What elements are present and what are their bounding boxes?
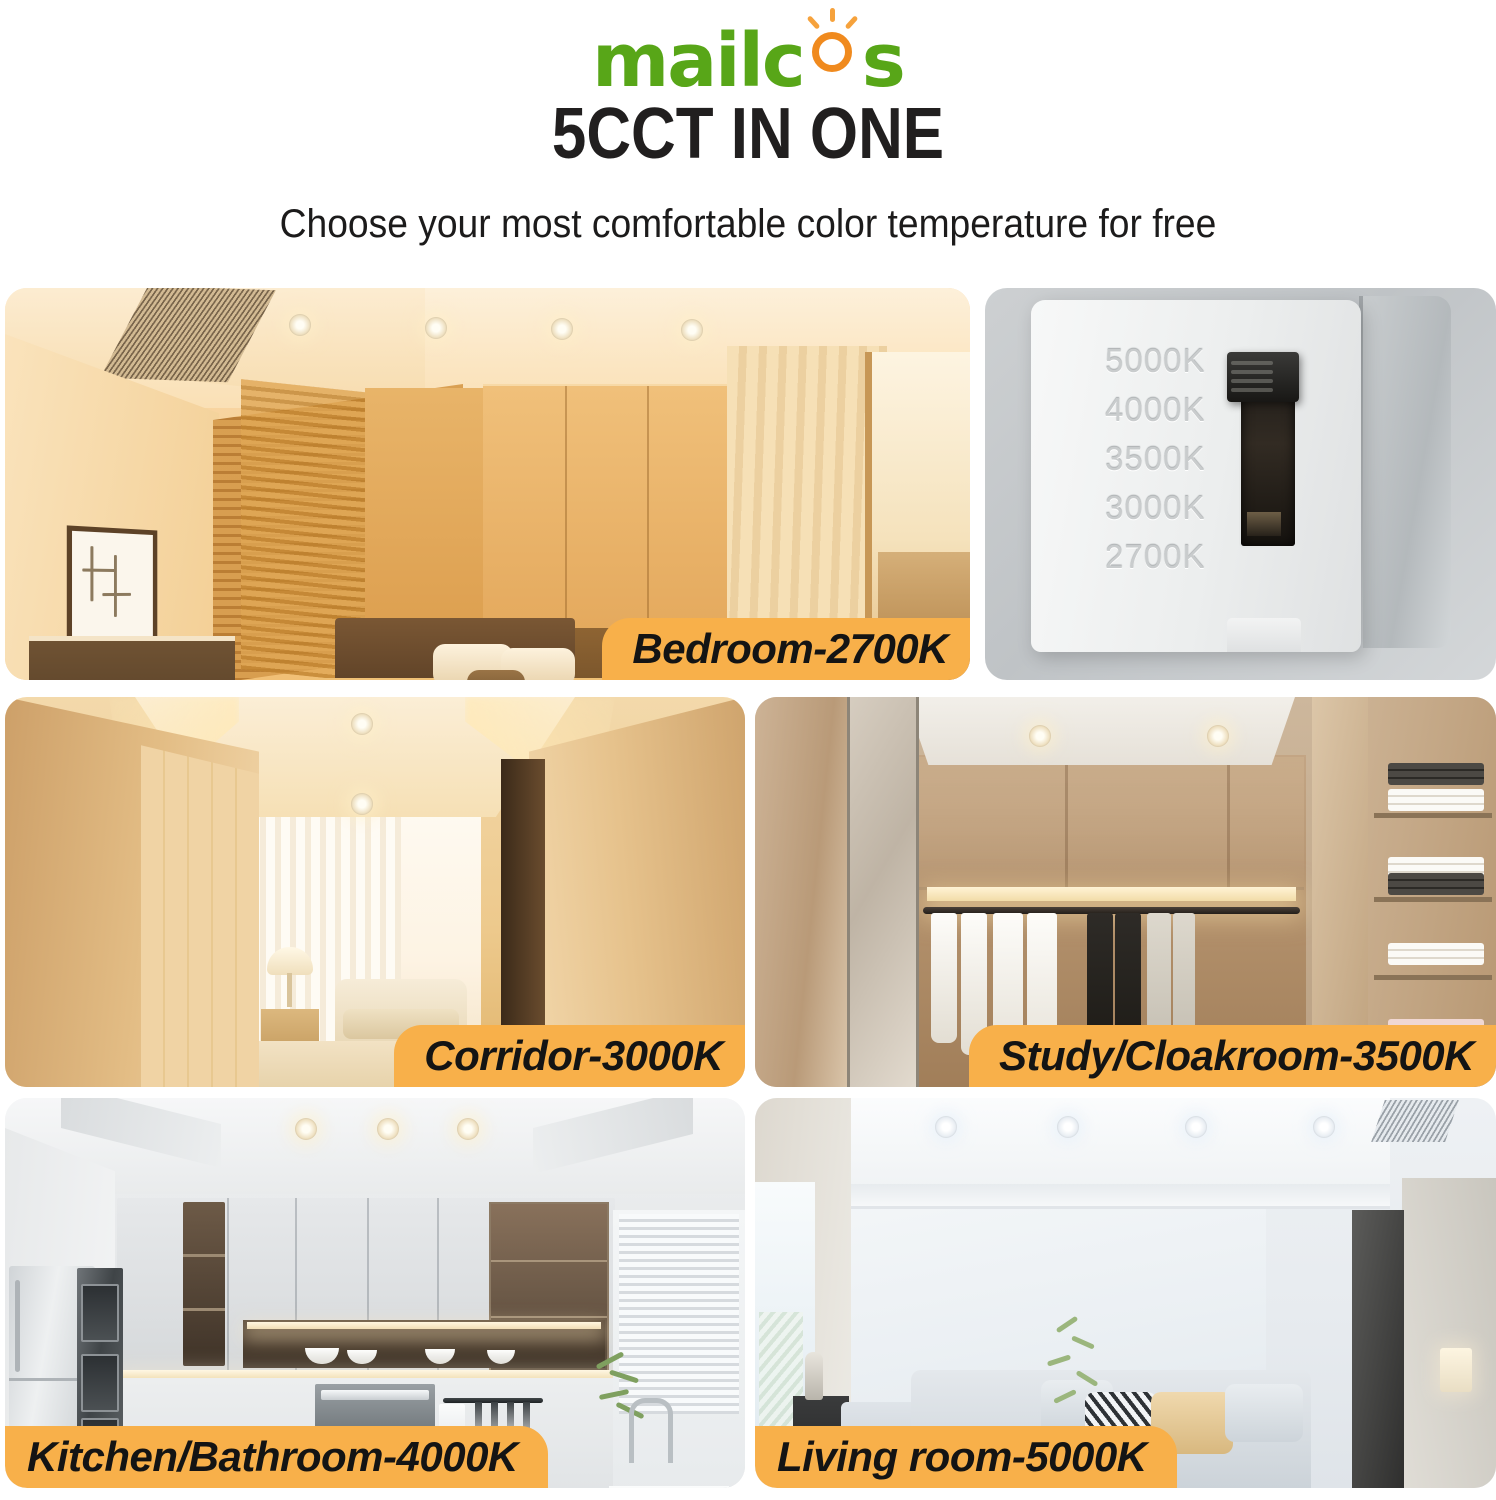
sun-icon <box>804 6 862 86</box>
ceiling-downlight <box>935 1116 957 1138</box>
badge-corridor: Corridor-3000K <box>394 1025 745 1087</box>
ceiling-downlight <box>351 793 373 815</box>
switch-side-face <box>1361 296 1451 648</box>
accent-pillow <box>467 670 525 680</box>
decor-statue <box>805 1352 823 1400</box>
cct-option-4000k: 4000K <box>1105 391 1205 429</box>
folded-items <box>1388 943 1484 965</box>
cct-option-2700k: 2700K <box>1105 538 1205 576</box>
bowl <box>347 1350 377 1364</box>
ceiling-downlight <box>425 317 447 339</box>
ceiling-downlight <box>289 314 311 336</box>
bowl <box>305 1348 339 1364</box>
ceiling-cove-edge <box>831 1184 1390 1206</box>
badge-kitchen: Kitchen/Bathroom-4000K <box>5 1426 548 1488</box>
air-vent-grille <box>1371 1100 1459 1142</box>
page-header: mail c s 5CCT IN ONE Choose your most co… <box>0 0 1496 278</box>
ceiling-downlight <box>457 1118 479 1140</box>
upper-cabinets <box>915 757 1304 890</box>
wardrobe-cabinets <box>483 384 731 636</box>
logo-text-s: s <box>862 21 904 101</box>
cct-option-5000k: 5000K <box>1105 342 1205 380</box>
switch-bottom-tab <box>1227 618 1301 652</box>
scene-panel-living-room: Living room-5000K <box>755 1098 1496 1488</box>
sink-faucet <box>629 1398 673 1463</box>
open-display-shelf <box>243 1320 605 1368</box>
folded-items <box>1388 763 1484 785</box>
badge-cloakroom: Study/Cloakroom-3500K <box>969 1025 1496 1087</box>
sun-ray-right-icon <box>844 15 858 29</box>
right-wall-column <box>1402 1178 1496 1488</box>
cct-option-3000k: 3000K <box>1105 489 1205 527</box>
ceiling-downlight <box>1185 1116 1207 1138</box>
scene-panel-bedroom: Bedroom-2700K <box>5 288 970 680</box>
page-title: 5CCT IN ONE <box>105 92 1392 176</box>
ceiling-downlight <box>351 713 373 735</box>
ceiling-downlight <box>295 1118 317 1140</box>
cct-option-3500k: 3500K <box>1105 440 1205 478</box>
badge-living-room: Living room-5000K <box>755 1426 1177 1488</box>
folded-items <box>1388 789 1484 811</box>
badge-bedroom: Bedroom-2700K <box>602 618 970 680</box>
closet-ceiling <box>905 697 1295 765</box>
page-subtitle: Choose your most comfortable color tempe… <box>52 200 1443 248</box>
sink-counter <box>609 1486 729 1488</box>
folded-items <box>1388 873 1484 895</box>
scene-panel-cloakroom: Study/Cloakroom-3500K <box>755 697 1496 1087</box>
ceiling-downlight <box>551 318 573 340</box>
bowl <box>487 1350 515 1364</box>
sun-ring-icon <box>812 32 852 72</box>
wall-sconce <box>1440 1348 1472 1392</box>
under-cabinet-light <box>119 1370 615 1378</box>
bowl <box>425 1349 455 1364</box>
ceiling-downlight <box>681 319 703 341</box>
ceiling-downlight <box>1313 1116 1335 1138</box>
hanging-garment <box>931 913 957 1043</box>
sun-ray-left-icon <box>806 15 820 29</box>
switch-front-face: 5000K 4000K 3500K 3000K 2700K <box>1031 300 1361 652</box>
table-lamp-stand <box>287 973 292 1007</box>
logo-text-mail: mail <box>592 21 762 101</box>
cct-slider-knob[interactable] <box>1227 352 1299 402</box>
brand-logo: mail c s <box>0 6 1496 86</box>
cushion <box>1225 1384 1303 1442</box>
scene-panel-corridor: Corridor-3000K <box>5 697 745 1087</box>
ceiling-downlight <box>1207 725 1229 747</box>
left-wood-column <box>755 697 847 1087</box>
ceiling-downlight <box>1057 1116 1079 1138</box>
logo-text-c: c <box>762 21 804 101</box>
cct-option-list: 5000K 4000K 3500K 3000K 2700K <box>1105 342 1205 576</box>
hallway-opening <box>1352 1210 1404 1488</box>
scene-grid: Bedroom-2700K 5000K 4000K 3500K 3000K 27… <box>0 288 1496 1498</box>
mirror-door <box>847 697 919 1087</box>
dresser <box>29 636 235 680</box>
ceiling-downlight <box>377 1118 399 1140</box>
sun-ray-top-icon <box>830 8 835 22</box>
left-wardrobe-doors <box>141 731 259 1087</box>
scene-panel-cct-switch: 5000K 4000K 3500K 3000K 2700K <box>985 288 1496 680</box>
framed-artwork <box>67 525 158 648</box>
scene-panel-kitchen: Kitchen/Bathroom-4000K <box>5 1098 745 1488</box>
led-light-strip <box>927 887 1296 901</box>
ceiling-downlight <box>1029 725 1051 747</box>
wall-panel <box>365 388 500 638</box>
open-niche-shelf <box>183 1202 225 1366</box>
